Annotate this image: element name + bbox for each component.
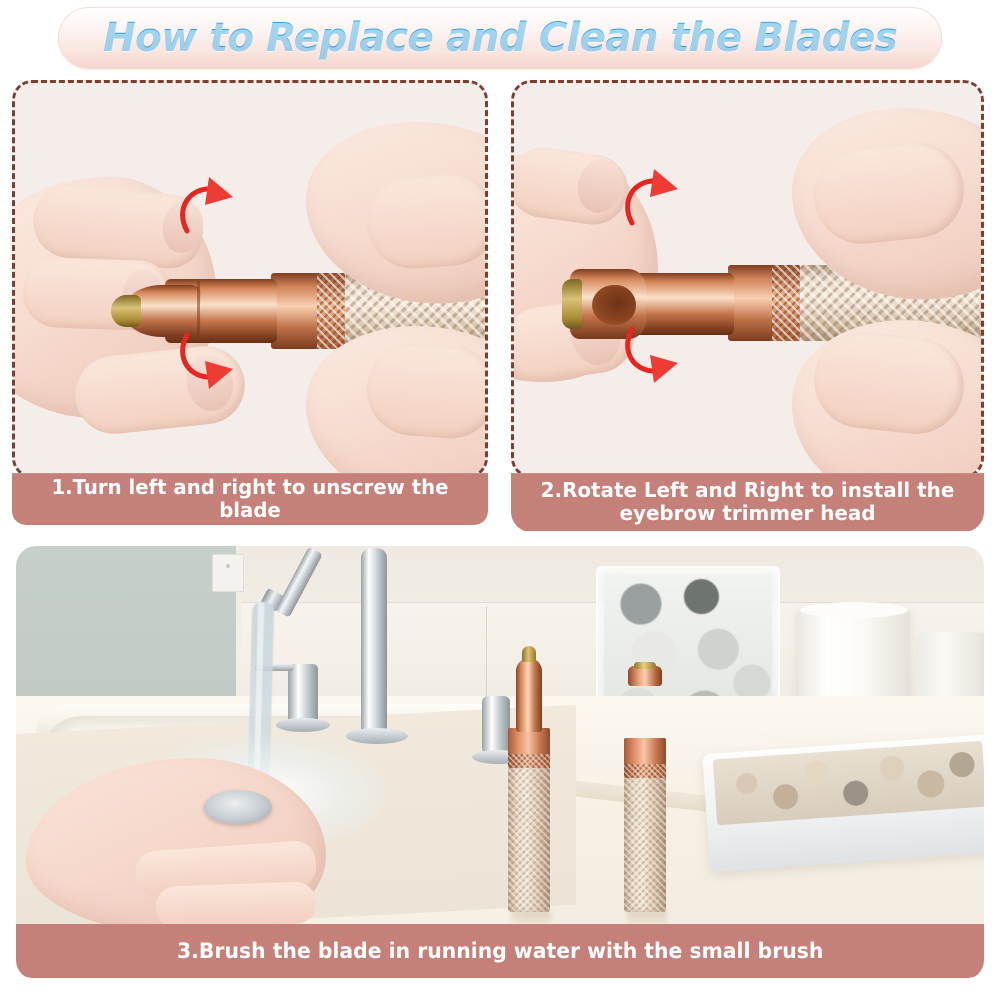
step-1-panel: 1.Turn left and right to unscrew the bla… — [12, 80, 488, 532]
trimmer-collar — [271, 273, 317, 349]
trimmer-standing-closed — [508, 646, 550, 914]
step-3-panel: 3.Brush the blade in running water with … — [16, 546, 984, 980]
step-3-caption: 3.Brush the blade in running water with … — [16, 924, 984, 978]
rotate-arrow-bottom — [165, 321, 245, 391]
step-3-caption-text: 3.Brush the blade in running water with … — [177, 939, 823, 963]
title-pill: How to Replace and Clean the Blades — [58, 7, 942, 69]
step-1-frame — [12, 80, 488, 478]
trimmer-gold-blade-disc — [634, 662, 656, 669]
wall-outlet — [212, 554, 244, 592]
step-3-photo — [16, 546, 984, 926]
trimmer-gold-blade-disc — [562, 279, 582, 329]
faucet-handle-left-base — [276, 718, 330, 732]
faucet-base — [346, 728, 408, 744]
faucet-handle-left — [288, 664, 318, 724]
step-1-illustration — [15, 83, 485, 475]
step-2-caption: 2.Rotate Left and Right to install the e… — [511, 473, 984, 531]
trimmer-blade-head — [516, 658, 542, 732]
rotate-arrow-top — [165, 175, 245, 245]
washing-hand-finger — [155, 881, 316, 926]
step-2-illustration — [514, 83, 981, 475]
pebbles — [713, 741, 984, 826]
step-2-panel: 2.Rotate Left and Right to install the e… — [511, 80, 984, 532]
rotate-arrow-top — [610, 167, 690, 237]
trimmer-collar — [728, 265, 772, 341]
trimmer-head-neck — [632, 684, 658, 742]
step-2-caption-text: 2.Rotate Left and Right to install the e… — [532, 479, 964, 525]
faucet-handle-right-stem — [482, 696, 510, 754]
faucet-column — [361, 548, 387, 738]
trimmer-blade-being-rinsed — [204, 790, 272, 824]
step-1-caption-text: 1.Turn left and right to unscrew the bla… — [22, 476, 479, 522]
trimmer-handle — [508, 766, 550, 912]
page-title: How to Replace and Clean the Blades — [103, 15, 897, 61]
step-1-caption: 1.Turn left and right to unscrew the bla… — [12, 473, 488, 525]
trimmer-open-head — [628, 666, 662, 686]
steps-panel-row: 1.Turn left and right to unscrew the bla… — [12, 80, 984, 532]
trimmer-gold-tip — [522, 646, 536, 662]
page-header: How to Replace and Clean the Blades — [0, 0, 1000, 76]
pebble-tray — [702, 734, 984, 872]
step-2-frame — [511, 80, 984, 478]
trimmer-gold-tip — [111, 295, 141, 327]
trimmer-handle — [624, 776, 666, 912]
trimmer-standing-open — [624, 658, 666, 914]
rotate-arrow-bottom — [610, 315, 690, 385]
